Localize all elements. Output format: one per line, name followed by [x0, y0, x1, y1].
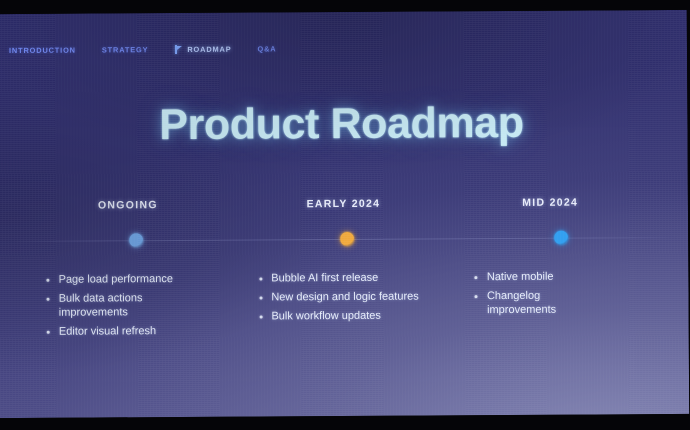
roadmap-column: EARLY 2024Bubble AI first releaseNew des…	[241, 197, 448, 210]
bullet-point-icon	[259, 296, 262, 299]
bullet-point-icon	[47, 297, 50, 300]
nav-item-introduction[interactable]: INTRODUCTION	[9, 46, 76, 55]
roadmap-item-label: New design and logic features	[271, 290, 418, 305]
roadmap-item-list: Page load performanceBulk data actions i…	[34, 272, 253, 344]
slide-surface: INTRODUCTIONSTRATEGYROADMAPQ&A Product R…	[0, 10, 689, 418]
bullet-point-icon	[259, 315, 262, 318]
roadmap-column-heading: MID 2024	[447, 196, 654, 209]
roadmap-item-label: Bulk workflow updates	[271, 309, 381, 324]
bullet-point-icon	[46, 278, 49, 281]
list-item: Page load performance	[46, 272, 253, 287]
list-item: Bulk data actions improvements	[46, 291, 253, 320]
roadmap-column-heading: ONGOING	[34, 199, 241, 212]
page-title: Product Roadmap	[0, 98, 688, 151]
list-item: Bubble AI first release	[259, 270, 466, 285]
list-item: Bulk workflow updates	[259, 308, 466, 323]
nav-item-label: INTRODUCTION	[9, 46, 76, 55]
bullet-point-icon	[259, 277, 262, 280]
roadmap-column: MID 2024Native mobileChangelog improveme…	[447, 196, 654, 209]
roadmap-item-list: Bubble AI first releaseNew design and lo…	[241, 270, 466, 328]
nav-item-roadmap[interactable]: ROADMAP	[174, 45, 231, 54]
roadmap-item-label: Changelog improvements	[487, 288, 607, 317]
nav-item-label: STRATEGY	[102, 45, 149, 54]
list-item: Native mobile	[475, 269, 682, 284]
roadmap-item-label: Bubble AI first release	[271, 271, 378, 286]
roadmap-item-label: Native mobile	[487, 270, 554, 284]
list-item: Editor visual refresh	[47, 324, 254, 339]
slide-top-navigation: INTRODUCTIONSTRATEGYROADMAPQ&A	[9, 44, 277, 55]
roadmap-item-label: Editor visual refresh	[59, 324, 156, 339]
roadmap-item-label: Page load performance	[59, 272, 173, 287]
bullet-point-icon	[475, 276, 478, 279]
milestone-dot-icon	[129, 233, 143, 247]
nav-item-strategy[interactable]: STRATEGY	[102, 45, 149, 54]
roadmap-item-list: Native mobileChangelog improvements	[448, 269, 682, 322]
nav-item-q-a[interactable]: Q&A	[257, 44, 276, 53]
flag-marker-icon	[174, 45, 183, 54]
roadmap-item-label: Bulk data actions improvements	[59, 291, 211, 320]
milestone-dot-icon	[340, 232, 354, 246]
list-item: New design and logic features	[259, 289, 466, 304]
list-item: Changelog improvements	[475, 288, 682, 317]
bullet-point-icon	[475, 295, 478, 298]
slide-background	[0, 10, 689, 418]
bullet-point-icon	[47, 330, 50, 333]
roadmap-column-heading: EARLY 2024	[241, 197, 448, 210]
roadmap-column: ONGOINGPage load performanceBulk data ac…	[34, 199, 241, 212]
photographed-slide-frame: INTRODUCTIONSTRATEGYROADMAPQ&A Product R…	[0, 0, 690, 430]
nav-item-label: Q&A	[257, 44, 276, 53]
nav-item-label: ROADMAP	[187, 45, 231, 54]
